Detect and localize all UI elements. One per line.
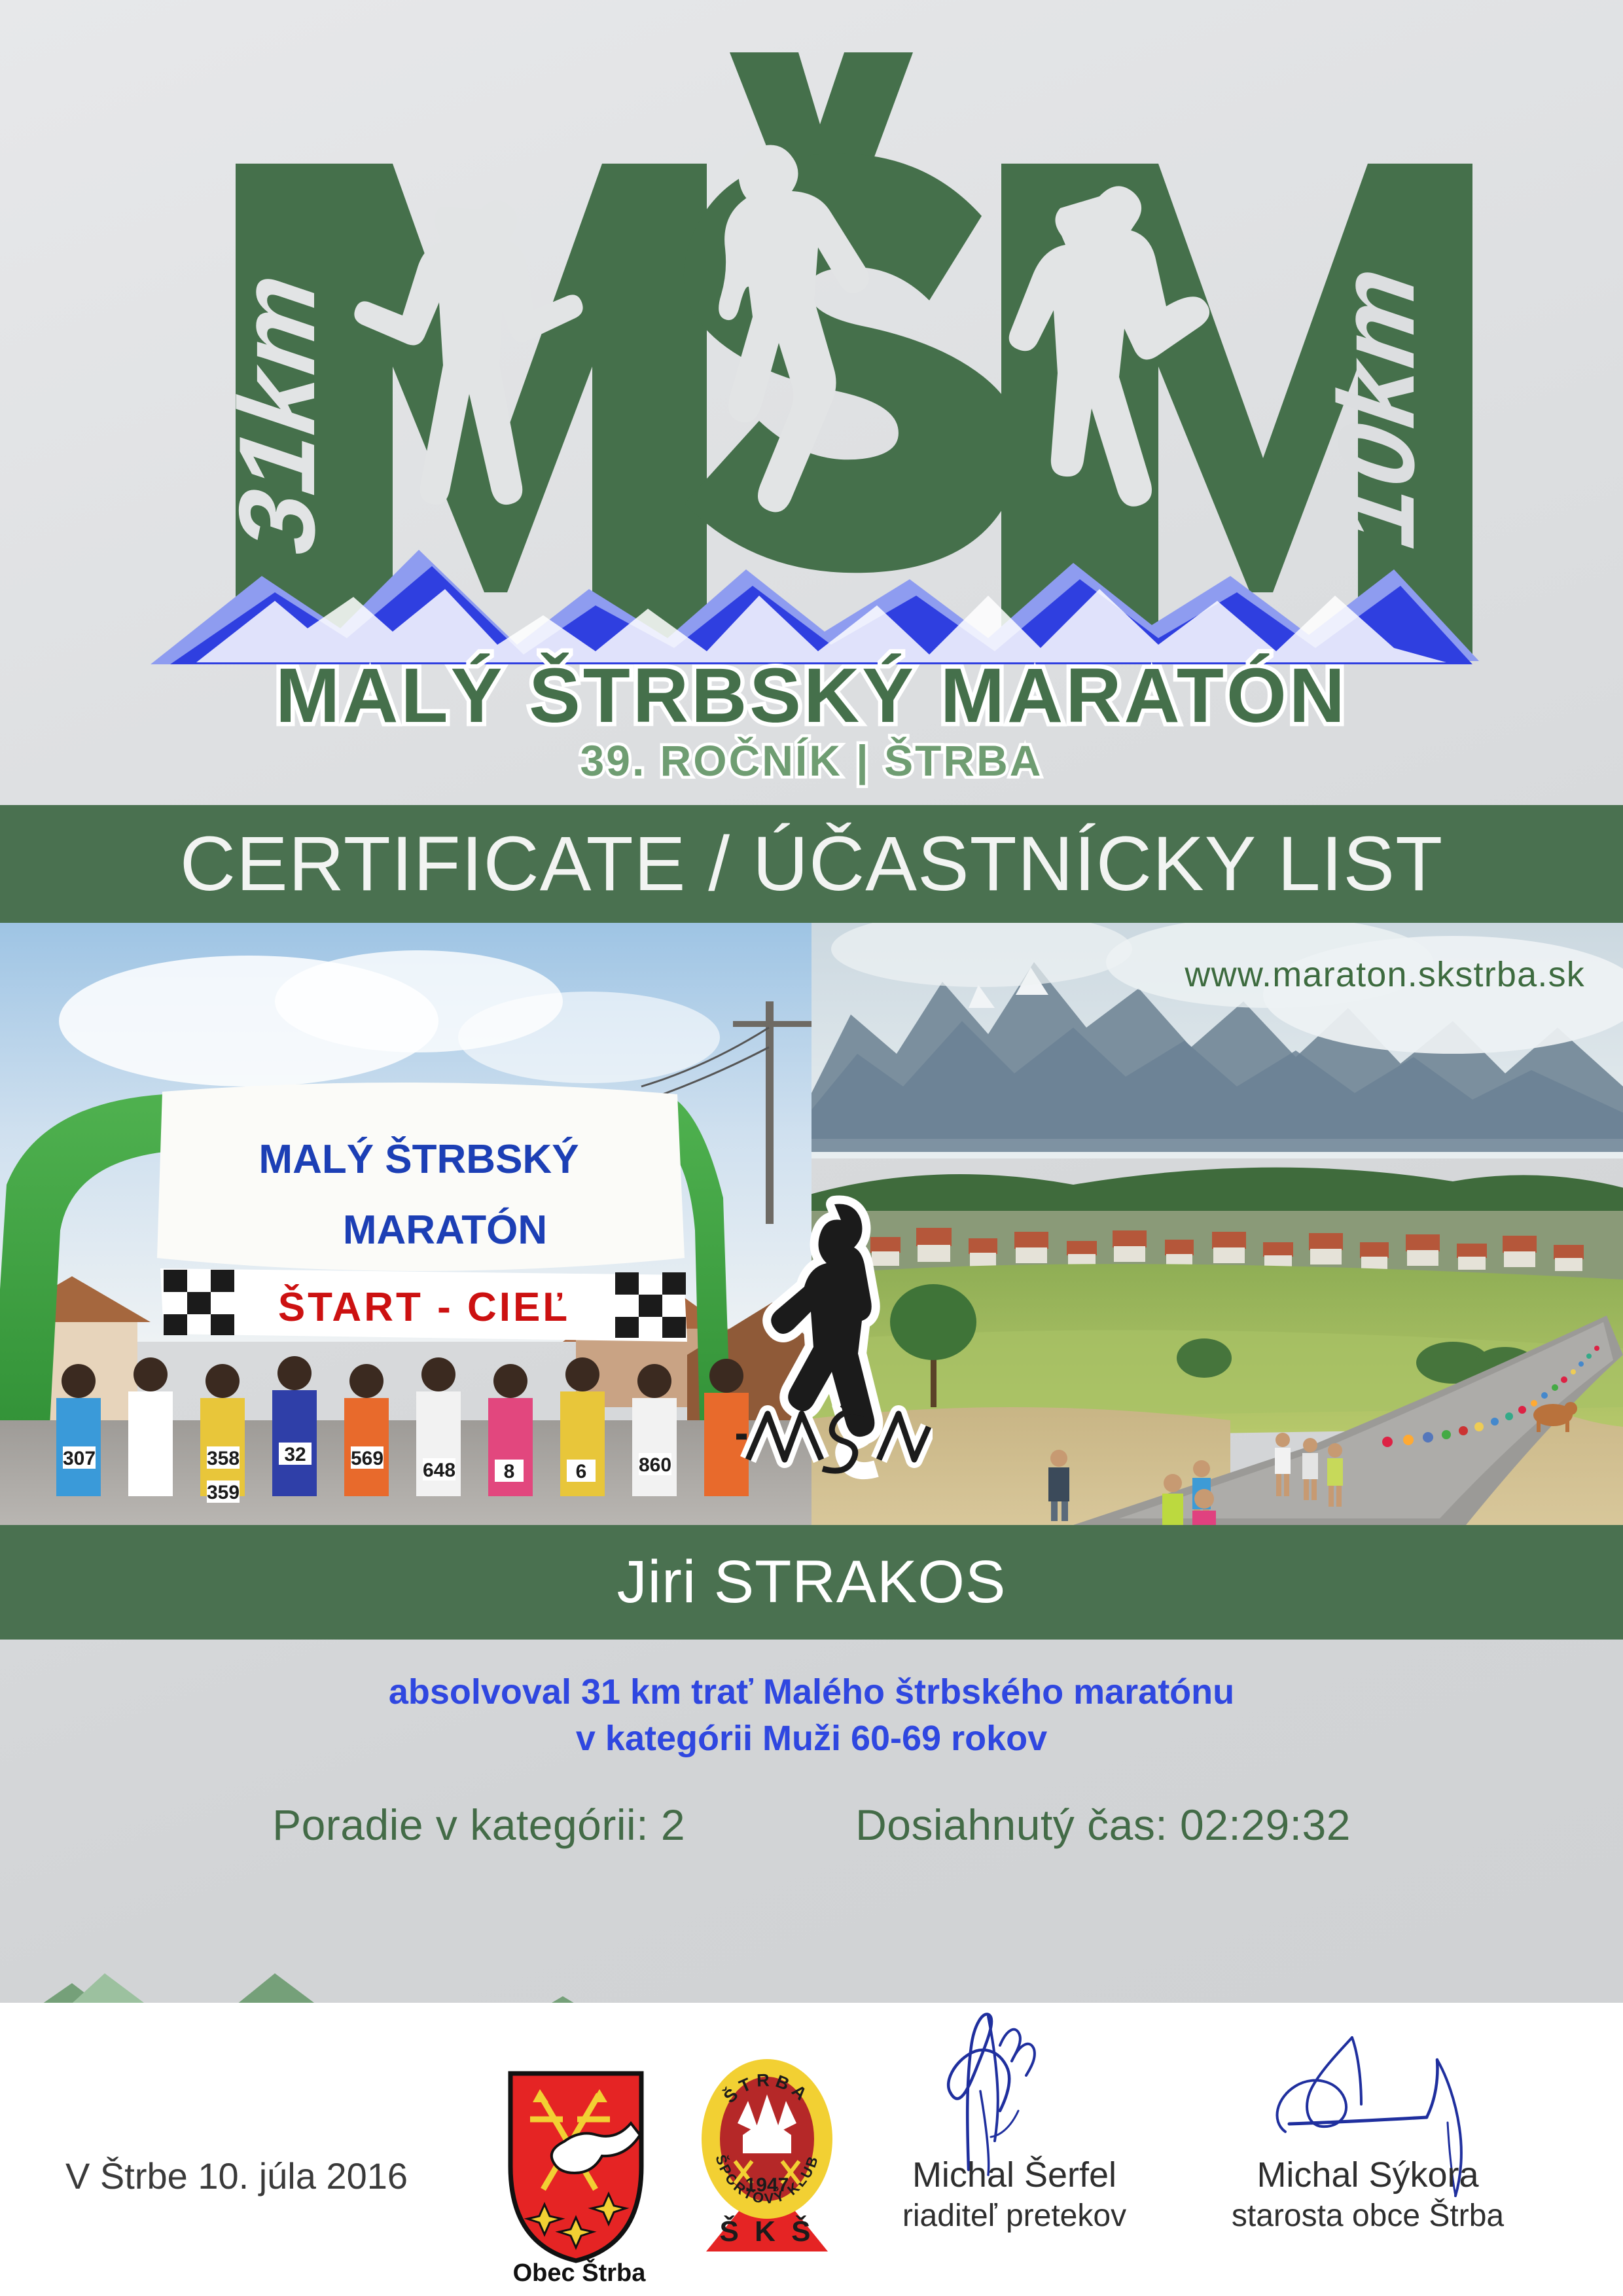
arch-caption-line2: MARATÓN [343,1208,547,1253]
signature-role: riaditeľ pretekov [844,2198,1185,2234]
svg-text:10km: 10km [1317,260,1437,554]
bib-number: 569 [351,1448,383,1469]
category-rank-value: 2 [661,1801,685,1849]
bib-number: 8 [504,1461,515,1482]
finish-time-value: 02:29:32 [1180,1801,1351,1849]
website-url: www.maraton.skstrba.sk [1185,954,1585,995]
bib-number: 358 [207,1448,240,1469]
achievement-description: absolvoval 31 km trať Malého štrbského m… [0,1669,1623,1763]
bib-number: 32 [284,1444,306,1465]
signature-name: Michal Sýkora [1198,2155,1538,2195]
certificate-body: absolvoval 31 km trať Malého štrbského m… [0,1640,1623,1905]
sks-bottom-text: Š K Š [720,2214,815,2248]
signature-role: starosta obce Štrba [1198,2198,1538,2234]
bib-number: 359 [207,1482,240,1503]
sks-year: 1947 [745,2174,789,2196]
signature-name: Michal Šerfel [844,2155,1185,2195]
certificate-title-band: CERTIFICATE / ÚČASTNÍCKY LIST [0,805,1623,923]
participant-name: Jiri STRAKOS [617,1548,1007,1617]
finish-time: Dosiahnutý čas: 02:29:32 [855,1800,1351,1850]
participant-name-band: Jiri STRAKOS [0,1525,1623,1640]
start-line-photo: MALÝ ŠTRBSKÝ MARATÓN ŠTART - CIEĽ [0,923,811,1525]
distance-left-31km: 31km [217,267,338,560]
bib-number: 648 [423,1460,455,1481]
bib-number: 860 [639,1454,671,1476]
start-finish-banner-text: ŠTART - CIEĽ [278,1285,570,1330]
obec-strba-label: Obec Štrba [488,2259,671,2287]
description-line-1: absolvoval 31 km trať Malého štrbského m… [0,1669,1623,1715]
msm-logo: 31km 10km [0,0,1623,805]
edition-line: 39. ROČNÍK | ŠTRBA [580,736,1043,786]
bib-number: 307 [63,1448,96,1469]
distance-right-10km: 10km [1317,260,1437,554]
logo-area: 31km 10km [0,0,1623,805]
certificate-title: CERTIFICATE / ÚČASTNÍCKY LIST [180,825,1443,903]
category-rank: Poradie v kategórii: 2 [272,1800,685,1850]
svg-text:31km: 31km [217,267,338,560]
obec-strba-crest-icon [504,2068,648,2265]
certificate-page: 31km 10km [0,0,1623,2296]
photo-strip: MALÝ ŠTRBSKÝ MARATÓN ŠTART - CIEĽ [0,923,1623,1525]
event-name: MALÝ ŠTRBSKÝ MARATÓN [276,652,1347,739]
signature-mark-serfel [890,2006,1139,2176]
footer: V Štrbe 10. júla 2016 Obec Štrba [0,2003,1623,2296]
bib-number: 6 [576,1461,587,1482]
finish-time-label: Dosiahnutý čas: [855,1801,1168,1849]
arch-caption-line1: MALÝ ŠTRBSKÝ [259,1137,579,1182]
category-rank-label: Poradie v kategórii: [272,1801,649,1849]
sks-club-crest-icon: ŠTRBA ŠPORTOVÝ KLUB 1947 Š K Š [697,2055,838,2271]
description-line-2: v kategórii Muži 60-69 rokov [0,1715,1623,1762]
place-and-date: V Štrbe 10. júla 2016 [65,2155,408,2197]
road-landscape-photo: www.maraton.skstrba.sk [811,923,1623,1525]
results-row: Poradie v kategórii: 2 Dosiahnutý čas: 0… [0,1800,1623,1850]
